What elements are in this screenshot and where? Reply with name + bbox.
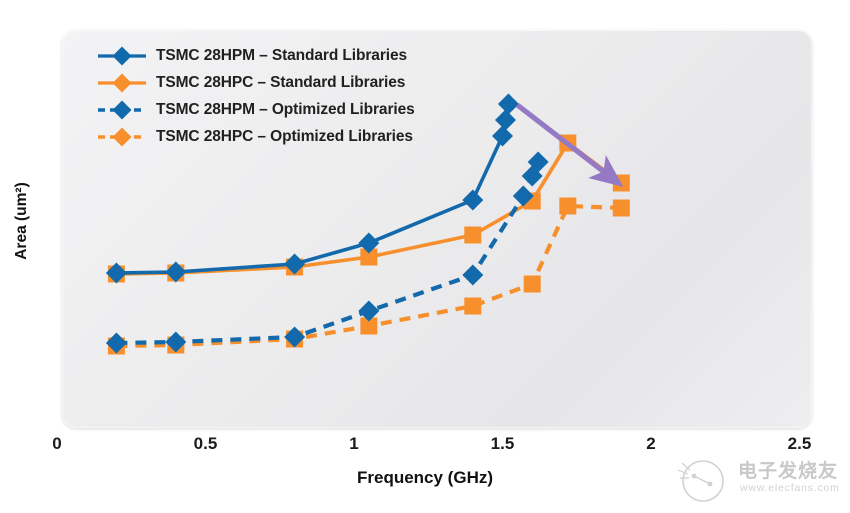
legend-item-3: TSMC 28HPM – Optimized Libraries [96, 96, 496, 123]
x-tick-label: 1.5 [491, 434, 515, 454]
legend-line-diamond-dashed-orange [96, 126, 148, 148]
legend-item-label: TSMC 28HPM – Standard Libraries [156, 47, 407, 65]
x-tick-label: 0.5 [194, 434, 218, 454]
legend-item-label: TSMC 28HPC – Optimized Libraries [156, 128, 413, 146]
legend-item-4: TSMC 28HPC – Optimized Libraries [96, 123, 496, 150]
series-4 [108, 198, 630, 355]
data-point-marker [462, 190, 483, 211]
x-tick-label: 0 [52, 434, 61, 454]
data-point-marker [498, 94, 519, 115]
legend-item-2: TSMC 28HPC – Standard Libraries [96, 69, 496, 96]
legend-item-label: TSMC 28HPM – Optimized Libraries [156, 101, 415, 119]
legend-line-diamond-solid-orange [96, 72, 148, 94]
data-point-marker [495, 110, 516, 131]
x-tick-label: 2.5 [788, 434, 812, 454]
chart-legend: TSMC 28HPM – Standard LibrariesTSMC 28HP… [96, 42, 496, 150]
data-point-marker [559, 198, 576, 215]
data-point-marker [464, 298, 481, 315]
series-line [116, 162, 538, 343]
legend-line-diamond-solid-blue [96, 45, 148, 67]
data-point-marker [613, 200, 630, 217]
legend-item-label: TSMC 28HPC – Standard Libraries [156, 74, 405, 92]
y-axis-title: Area (um²) [13, 166, 31, 276]
x-tick-label: 1 [349, 434, 358, 454]
x-tick-label: 2 [646, 434, 655, 454]
data-point-marker [462, 265, 483, 286]
x-axis-title: Frequency (GHz) [0, 468, 850, 488]
data-point-marker [464, 227, 481, 244]
legend-item-1: TSMC 28HPM – Standard Libraries [96, 42, 496, 69]
series-2 [108, 135, 630, 283]
data-point-marker [524, 276, 541, 293]
chart-figure: TSMC 28HPM – Standard LibrariesTSMC 28HP… [0, 0, 850, 513]
legend-line-diamond-dashed-blue [96, 99, 148, 121]
